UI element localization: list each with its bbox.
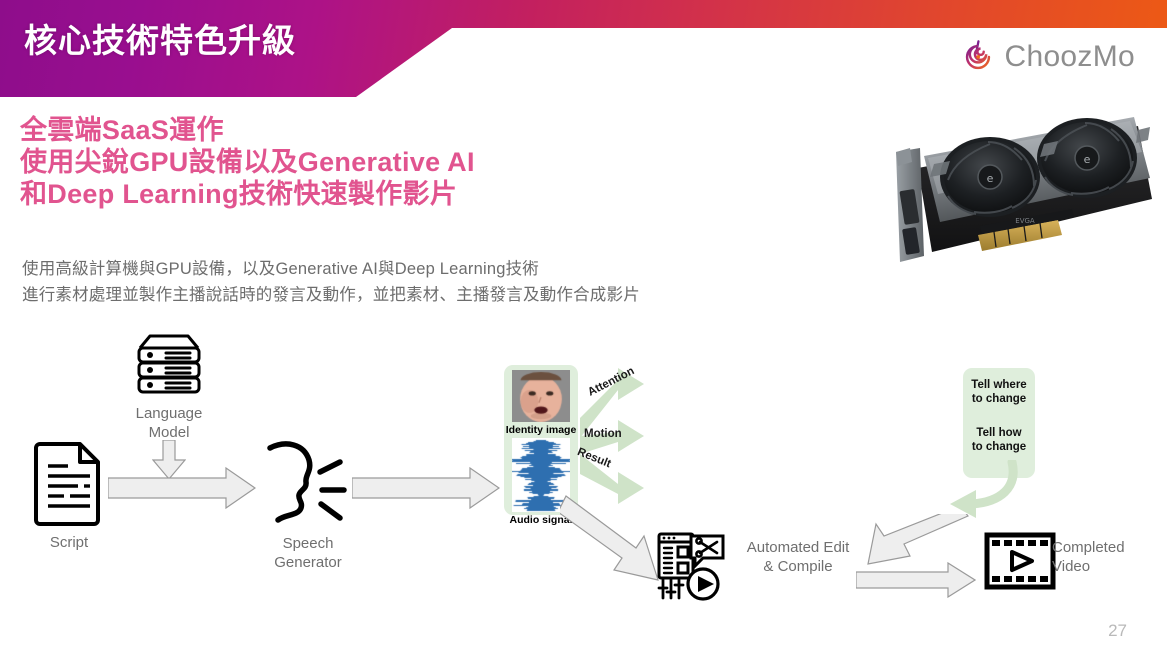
language-model-label: Language Model [110, 404, 228, 442]
logo-wordmark: ChoozMo [1005, 40, 1136, 74]
choozmo-logo: ChoozMo [959, 38, 1136, 76]
pipeline-diagram: Language Model Script [0, 310, 1167, 655]
svg-text:e: e [1084, 153, 1091, 166]
arrow-script-to-speech [108, 466, 256, 510]
slide-canvas: 核心技術特色升級 ChoozMo 全雲端SaaS運作 使用尖銳GPU設備以及Ge… [0, 0, 1167, 655]
arrow-speech-to-model [352, 466, 500, 510]
graphics-card-image: e e EVGA [862, 104, 1162, 280]
headline-line-1: 全雲端SaaS運作 [20, 114, 640, 146]
callout-curved-arrow-icon [938, 460, 1038, 520]
identity-image-label: Identity image [504, 424, 578, 436]
branch-label-motion: Motion [584, 428, 622, 440]
subtitle-line-2: 進行素材處理並製作主播說話時的發言及動作，並把素材、主播發言及動作合成影片 [22, 282, 882, 308]
subtitle-line-1: 使用高級計算機與GPU設備，以及Generative AI與Deep Learn… [22, 256, 882, 282]
identity-image [512, 370, 570, 422]
video-editor-icon [655, 528, 727, 602]
film-play-icon [984, 532, 1056, 590]
headline-line-2: 使用尖銳GPU設備以及Generative AI [20, 146, 640, 178]
arrow-editor-to-video [856, 562, 976, 598]
callout-tell-where: Tell whereto change [963, 378, 1035, 406]
page-title: 核心技術特色升級 [24, 14, 296, 62]
completed-video-label: Completed Video [1052, 538, 1167, 576]
document-icon [34, 438, 104, 526]
automated-edit-label: Automated Edit & Compile [728, 538, 868, 576]
speaking-head-icon [264, 438, 350, 530]
svg-text:EVGA: EVGA [1015, 217, 1035, 225]
headline-line-3: 和Deep Learning技術快速製作影片 [20, 178, 640, 210]
server-rack-icon [130, 332, 208, 398]
headline-block: 全雲端SaaS運作 使用尖銳GPU設備以及Generative AI 和Deep… [20, 114, 640, 210]
script-label: Script [19, 533, 119, 552]
page-number: 27 [1108, 621, 1127, 641]
choozmo-spiral-logo-icon [959, 38, 997, 76]
subtitle-block: 使用高級計算機與GPU設備，以及Generative AI與Deep Learn… [22, 256, 882, 308]
svg-text:e: e [987, 172, 994, 185]
callout-tell-how: Tell howto change [963, 426, 1035, 454]
speech-generator-label: Speech Generator [248, 534, 368, 572]
